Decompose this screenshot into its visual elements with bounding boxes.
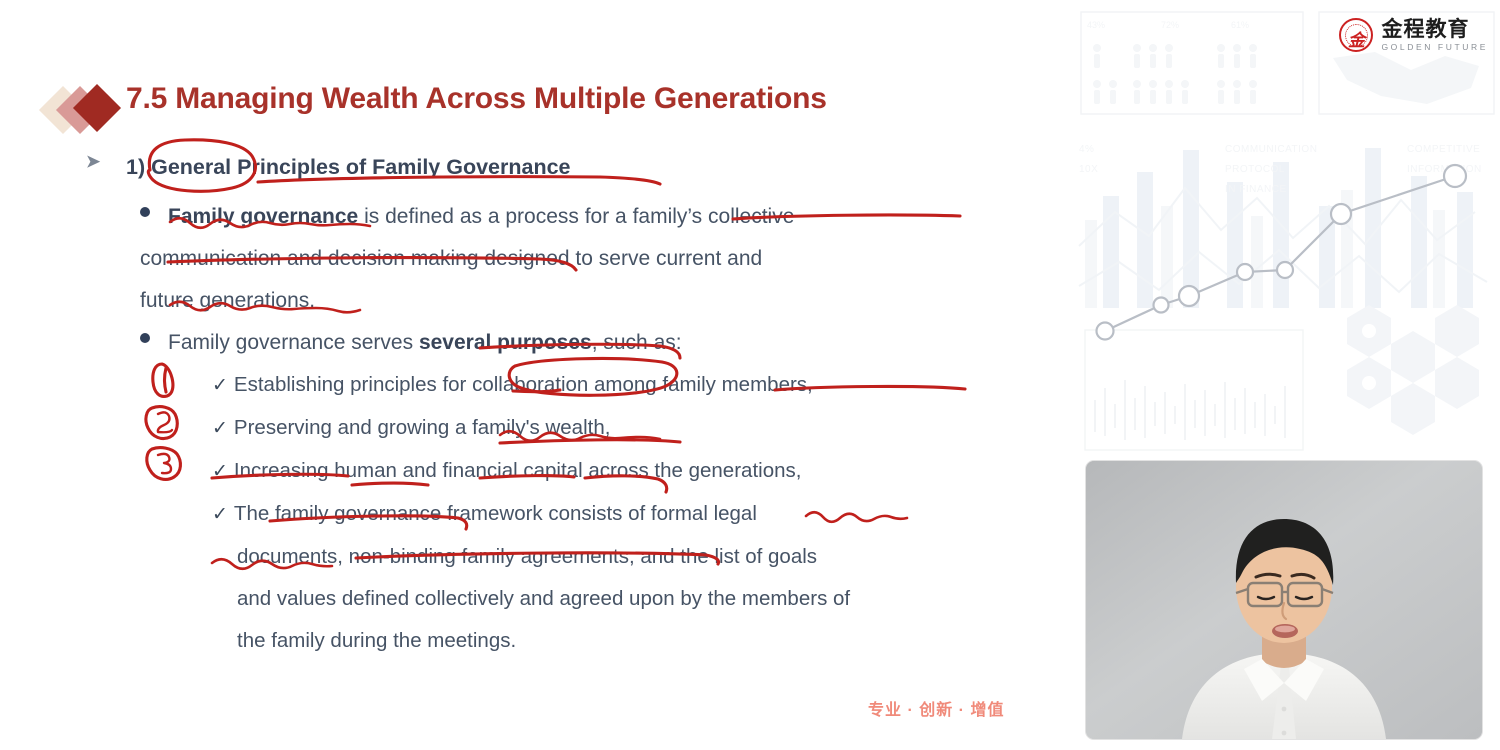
brand-text: 金程教育 GOLDEN FUTURE [1381,19,1488,52]
slide-body: ➤ 1) General Principles of Family Govern… [86,150,1046,662]
page-title: 7.5 Managing Wealth Across Multiple Gene… [126,82,827,116]
svg-text:COMMUNICATION: COMMUNICATION [1225,144,1317,155]
brand-name-cn: 金程教育 [1381,19,1488,40]
checklist-item: ✓Preserving and growing a family's wealt… [212,407,1046,450]
svg-text:COMPETITIVE: COMPETITIVE [1407,144,1480,155]
bullet-item: Family governance is defined as a proces… [140,196,1046,322]
brand-seal-glyph: 金 [1341,26,1371,51]
presenter-video-frame [1086,461,1482,739]
svg-text:4%: 4% [1079,144,1094,155]
right-panel: 43%72%61% 4% [1075,0,1500,750]
bullet-line-text: Family governance serves [168,331,419,354]
bullet-item: Family governance serves several purpose… [140,322,1046,364]
svg-text:61%: 61% [1231,20,1249,30]
check-icon: ✓ [212,375,228,396]
checklist-item: ✓The family governance framework consist… [212,493,1046,536]
brand-logo: 金 金程教育 GOLDEN FUTURE [1339,18,1488,52]
checklist-item-label: Increasing human and financial capital a… [234,459,802,482]
checklist-item-label: Preserving and growing a family's wealth… [234,416,611,439]
checklist-item-label: The family governance framework consists… [234,502,757,525]
check-icon: ✓ [212,418,228,439]
continuation-line: documents, non-binding family agreements… [237,536,1046,578]
svg-text:IN FINANCE: IN FINANCE [1225,184,1287,195]
checklist-item: ✓Establishing principles for collaborati… [212,364,1046,407]
bullet-line-3: future generations. [140,280,1046,322]
section-heading: ➤ 1) General Principles of Family Govern… [86,150,1046,186]
svg-text:72%: 72% [1161,20,1179,30]
checklist-item: ✓Increasing human and financial capital … [212,450,1046,493]
bullet-bold-lead: Family governance [168,205,358,228]
diamond-decoration-icon [46,86,126,134]
checklist: ✓Establishing principles for collaborati… [212,364,1046,662]
slide-tagline: 专业 · 创新 · 增值 [868,696,1004,720]
background-infographic: 43%72%61% 4% [1075,0,1500,460]
checklist-item-label: Establishing principles for collaboratio… [234,373,813,396]
continuation-line: and values defined collectively and agre… [237,578,1046,620]
presenter-video-tile[interactable] [1086,461,1482,739]
bullet-bold-phrase: several purposes [419,331,592,354]
bullet-line-text: is defined as a process for a family’s c… [358,205,794,228]
svg-text:43%: 43% [1087,20,1105,30]
round-bullet-icon [140,333,150,343]
brand-name-en: GOLDEN FUTURE [1381,43,1488,52]
check-icon: ✓ [212,461,228,482]
svg-text:PROTOCOL: PROTOCOL [1225,164,1285,175]
slide-canvas: 7.5 Managing Wealth Across Multiple Gene… [0,0,1075,750]
brand-seal-icon: 金 [1339,18,1373,52]
continuation-line: the family during the meetings. [237,620,1046,662]
bullet-line-tail: , such as: [592,331,682,354]
round-bullet-icon [140,207,150,217]
check-icon: ✓ [212,504,228,525]
svg-text:10X: 10X [1079,164,1098,175]
bullet-line-2: communication and decision making design… [140,238,1046,280]
arrow-bullet-icon: ➤ [86,153,104,171]
